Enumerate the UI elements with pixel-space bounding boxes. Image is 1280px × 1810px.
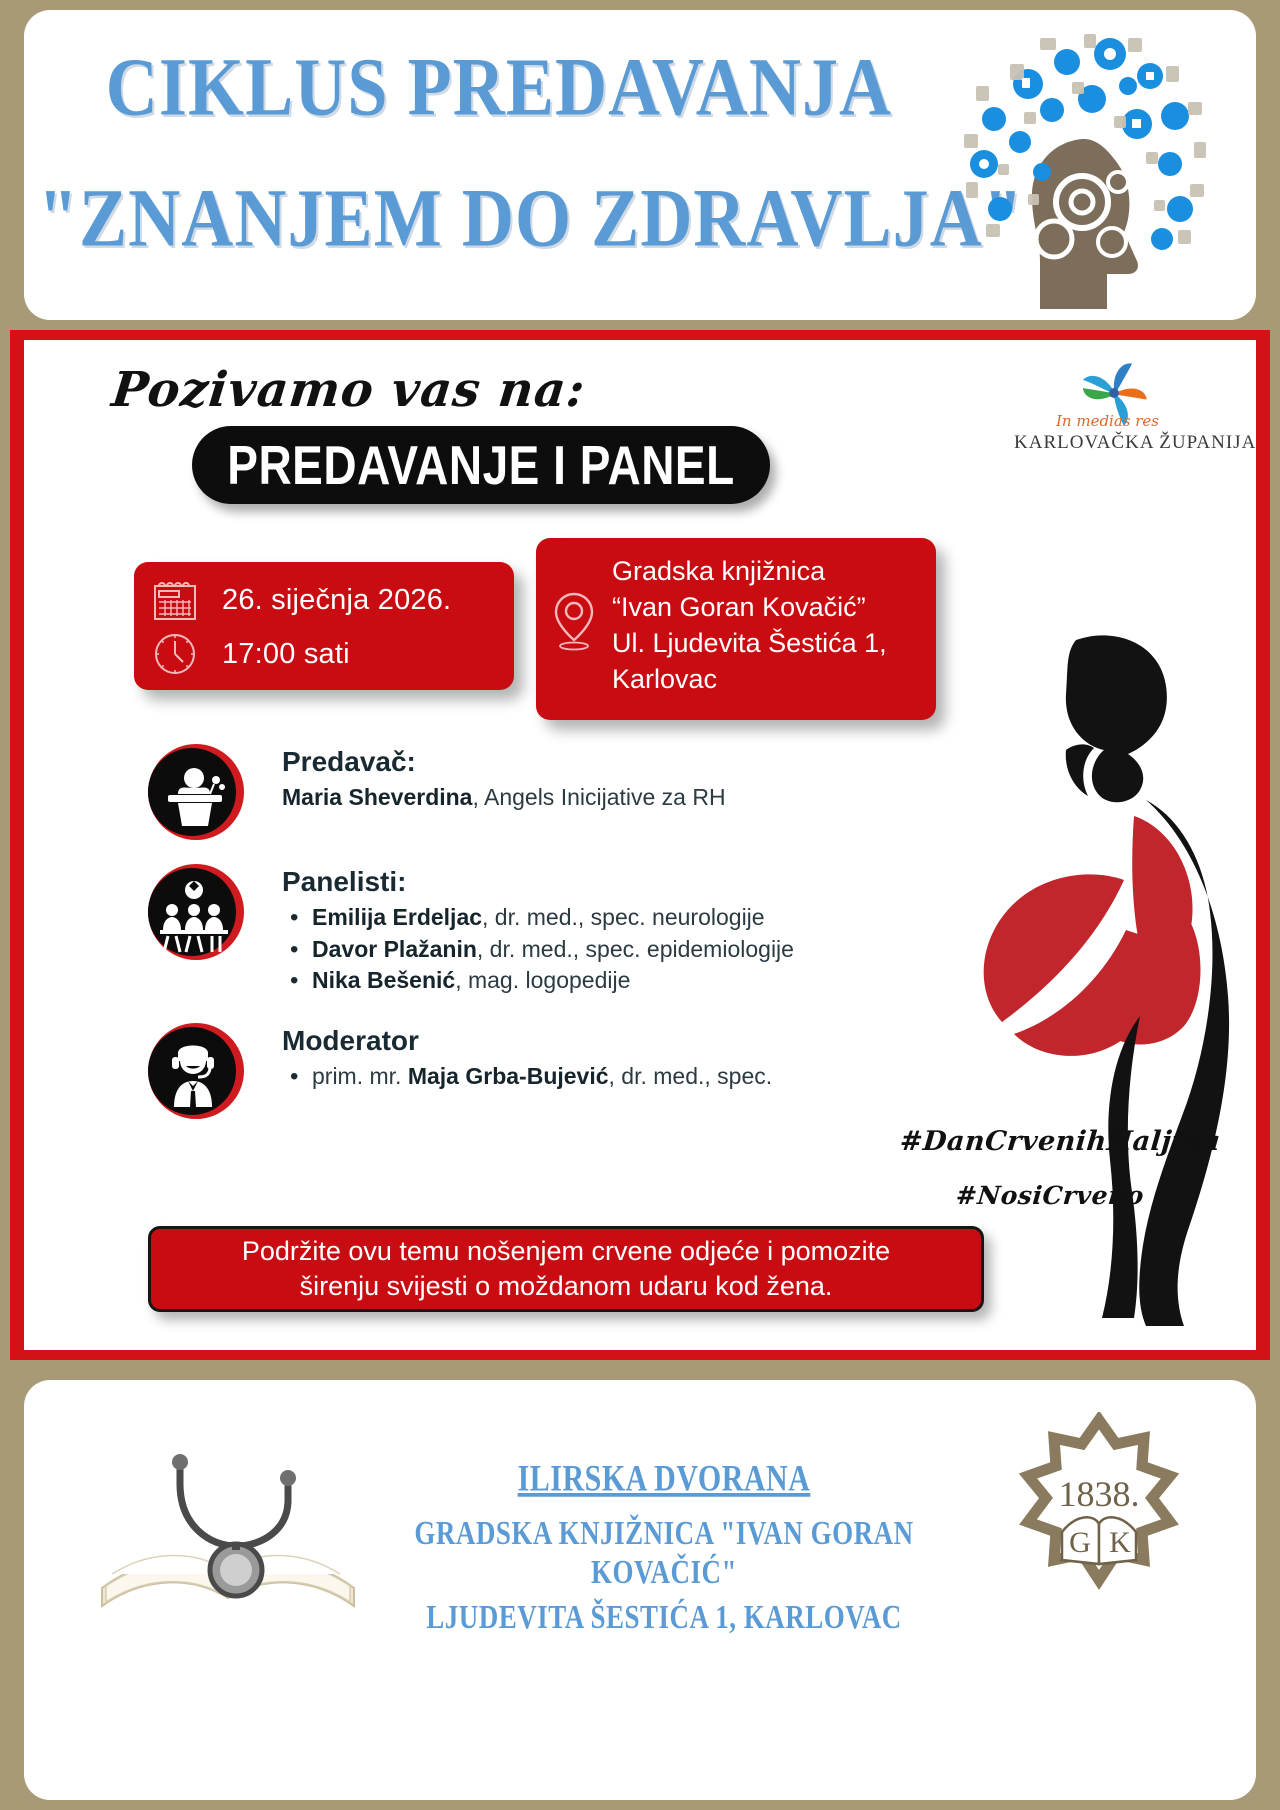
seal-initial-right: K bbox=[1109, 1526, 1131, 1559]
role-label-moderator: Moderator bbox=[282, 1025, 822, 1057]
time-row: 17:00 sati bbox=[150, 629, 498, 679]
hashtag-secondary: #NosiCrveno bbox=[899, 1181, 1202, 1210]
county-logo: In medias res KARLOVAČKA ŽUPANIJA bbox=[1014, 352, 1214, 454]
hashtag-primary: #DanCrvenihHaljina bbox=[899, 1126, 1202, 1157]
panelists-list: Emilija Erdeljac, dr. med., spec. neurol… bbox=[282, 902, 822, 997]
panelists-table-icon bbox=[142, 860, 246, 964]
moderator-prefix: prim. mr. bbox=[312, 1063, 408, 1089]
place-line-2: “Ivan Goran Kovačić” bbox=[612, 590, 887, 626]
header-panel: CIKLUS PREDAVANJA "ZNANJEM DO ZDRAVLJA" bbox=[24, 10, 1256, 320]
date-row: 26. siječnja 2026. bbox=[150, 575, 498, 625]
page-title-line-1: CIKLUS PREDAVANJA bbox=[38, 34, 960, 140]
list-item: Emilija Erdeljac, dr. med., spec. neurol… bbox=[282, 902, 822, 934]
moderator-name: Maja Grba-Bujević bbox=[408, 1063, 609, 1089]
lecturer-name: Maria Sheverdina bbox=[282, 784, 472, 810]
event-type-badge: PREDAVANJE I PANEL bbox=[192, 426, 770, 504]
brain-knowledge-icon bbox=[932, 24, 1222, 314]
place-line-1: Gradska knjižnica bbox=[612, 554, 887, 590]
person-block-lecturer: Predavač: Maria Sheverdina, Angels Inici… bbox=[142, 740, 822, 838]
place-address: Gradska knjižnica “Ivan Goran Kovačić” U… bbox=[612, 554, 887, 698]
book-stethoscope-icon bbox=[84, 1438, 374, 1648]
list-item: prim. mr. Maja Grba-Bujević, dr. med., s… bbox=[282, 1061, 822, 1093]
lecturer-entry: Maria Sheverdina, Angels Inicijative za … bbox=[282, 782, 822, 813]
panelist-name: Nika Bešenić bbox=[312, 967, 455, 993]
header-title-group: CIKLUS PREDAVANJA "ZNANJEM DO ZDRAVLJA" bbox=[64, 34, 934, 252]
footer-hall-name: ILIRSKA DVORANA bbox=[394, 1458, 934, 1501]
footer-venue-info: ILIRSKA DVORANA GRADSKA KNJIŽNICA "IVAN … bbox=[394, 1458, 934, 1629]
lecturer-podium-icon bbox=[142, 740, 246, 844]
footer-panel: ILIRSKA DVORANA GRADSKA KNJIŽNICA "IVAN … bbox=[24, 1380, 1256, 1800]
panelist-name: Emilija Erdeljac bbox=[312, 904, 482, 930]
county-logo-script: In medias res bbox=[1056, 412, 1214, 430]
role-label-panelists: Panelisti: bbox=[282, 866, 822, 898]
map-pin-icon bbox=[550, 588, 598, 652]
panelist-detail: , mag. logopedije bbox=[455, 967, 630, 993]
event-time: 17:00 sati bbox=[222, 638, 350, 671]
hashtags-group: #DanCrvenihHaljina #NosiCrveno bbox=[900, 1126, 1200, 1210]
person-block-panelists: Panelisti: Emilija Erdeljac, dr. med., s… bbox=[142, 860, 822, 997]
seal-year: 1838. bbox=[1059, 1474, 1140, 1514]
footer-library-name: GRADSKA KNJIŽNICA "IVAN GORAN KOVAČIĆ" bbox=[394, 1514, 934, 1592]
cta-line-2: širenju svijesti o moždanom udaru kod že… bbox=[242, 1269, 890, 1304]
list-item: Nika Bešenić, mag. logopedije bbox=[282, 965, 822, 997]
footer-address: LJUDEVITA ŠESTIĆA 1, KARLOVAC bbox=[394, 1598, 934, 1637]
moderator-detail: , dr. med., spec. bbox=[609, 1063, 773, 1089]
moderator-headset-icon bbox=[142, 1019, 246, 1123]
event-type-label: PREDAVANJE I PANEL bbox=[227, 433, 734, 497]
clock-icon bbox=[150, 631, 202, 677]
list-item: Davor Plažanin, dr. med., spec. epidemio… bbox=[282, 934, 822, 966]
moderator-list: prim. mr. Maja Grba-Bujević, dr. med., s… bbox=[282, 1061, 822, 1093]
county-logo-name: KARLOVAČKA ŽUPANIJA bbox=[1014, 432, 1214, 454]
call-to-action-banner: Podržite ovu temu nošenjem crvene odjeće… bbox=[148, 1226, 984, 1312]
panelist-name: Davor Plažanin bbox=[312, 936, 477, 962]
panelist-detail: , dr. med., spec. neurologije bbox=[482, 904, 765, 930]
panelist-detail: , dr. med., spec. epidemiologije bbox=[477, 936, 794, 962]
calendar-icon bbox=[150, 577, 202, 623]
library-seal-icon: 1838. G K bbox=[1004, 1412, 1194, 1602]
lecturer-detail: , Angels Inicijative za RH bbox=[472, 784, 725, 810]
page-title-line-2: "ZNANJEM DO ZDRAVLJA" bbox=[38, 165, 960, 271]
event-date: 26. siječnja 2026. bbox=[222, 584, 451, 617]
person-block-moderator: Moderator prim. mr. Maja Grba-Bujević, d… bbox=[142, 1019, 822, 1117]
people-section: Predavač: Maria Sheverdina, Angels Inici… bbox=[142, 740, 822, 1139]
red-dress-woman-silhouette bbox=[888, 630, 1248, 1330]
role-label-lecturer: Predavač: bbox=[282, 746, 822, 778]
cta-line-1: Podržite ovu temu nošenjem crvene odjeće… bbox=[242, 1234, 890, 1269]
main-content-panel: Pozivamo vas na: PREDAVANJE I PANEL In m… bbox=[10, 330, 1270, 1360]
place-box: Gradska knjižnica “Ivan Goran Kovačić” U… bbox=[536, 538, 936, 720]
cta-text: Podržite ovu temu nošenjem crvene odjeće… bbox=[226, 1234, 906, 1304]
seal-initial-left: G bbox=[1069, 1526, 1091, 1559]
invite-script-text: Pozivamo vas na: bbox=[109, 362, 588, 418]
place-line-3: Ul. Ljudevita Šestića 1, bbox=[612, 626, 887, 662]
datetime-box: 26. siječnja 2026. 17:00 sati bbox=[134, 562, 514, 690]
place-line-4: Karlovac bbox=[612, 662, 887, 698]
